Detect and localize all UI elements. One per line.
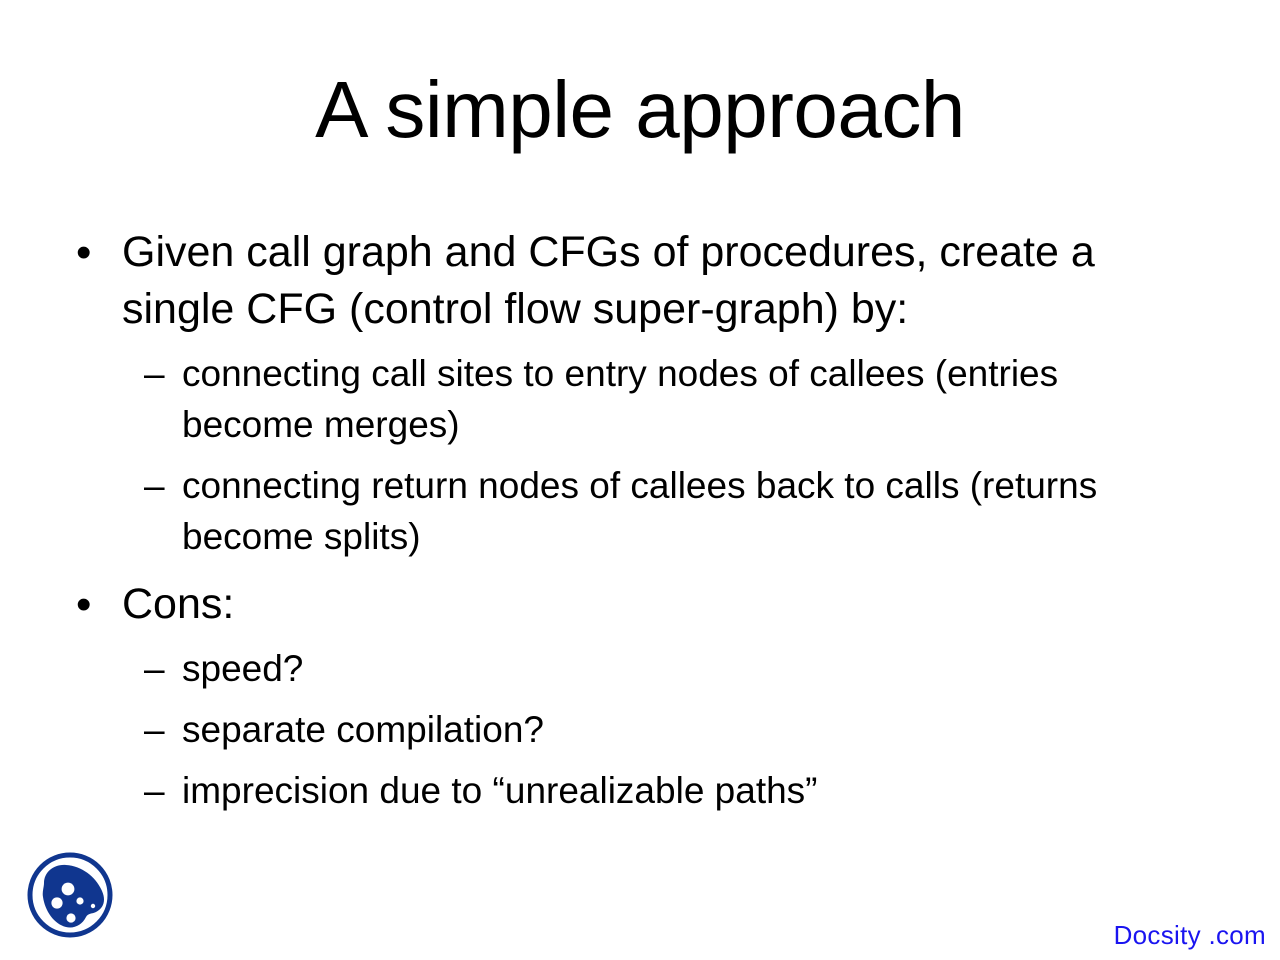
bullet-item-4: • Cons: <box>62 576 1222 633</box>
spacer <box>62 340 1222 348</box>
slide-canvas: A simple approach • Given call graph and… <box>0 0 1280 960</box>
bullet-text: imprecision due to “unrealizable paths” <box>182 765 1192 816</box>
spacer <box>62 564 1222 576</box>
dash-marker-icon: – <box>62 765 182 816</box>
spacer <box>62 696 1222 704</box>
bullet-item-6: – separate compilation? <box>62 704 1222 755</box>
page-title: A simple approach <box>0 68 1280 152</box>
bullet-item-5: – speed? <box>62 643 1222 694</box>
docsity-logo-icon <box>20 845 120 945</box>
spacer <box>62 452 1222 460</box>
bullet-item-7: – imprecision due to “unrealizable paths… <box>62 765 1222 816</box>
bullet-text: Given call graph and CFGs of procedures,… <box>122 224 1197 338</box>
dash-marker-icon: – <box>62 643 182 694</box>
dash-marker-icon: – <box>62 348 182 399</box>
docsity-wordmark: Docsity .com <box>1114 920 1266 951</box>
bullet-marker-icon: • <box>62 224 122 281</box>
bullet-marker-icon: • <box>62 576 122 633</box>
bullet-item-2: – connecting call sites to entry nodes o… <box>62 348 1222 450</box>
bullet-text: speed? <box>182 643 1192 694</box>
slide-body: • Given call graph and CFGs of procedure… <box>62 224 1222 818</box>
bullet-text: Cons: <box>122 576 1197 633</box>
bullet-text: separate compilation? <box>182 704 1192 755</box>
dash-marker-icon: – <box>62 704 182 755</box>
spacer <box>62 635 1222 643</box>
bullet-text: connecting call sites to entry nodes of … <box>182 348 1192 450</box>
bullet-item-3: – connecting return nodes of callees bac… <box>62 460 1222 562</box>
bullet-item-1: • Given call graph and CFGs of procedure… <box>62 224 1222 338</box>
spacer <box>62 757 1222 765</box>
dash-marker-icon: – <box>62 460 182 511</box>
bullet-text: connecting return nodes of callees back … <box>182 460 1192 562</box>
